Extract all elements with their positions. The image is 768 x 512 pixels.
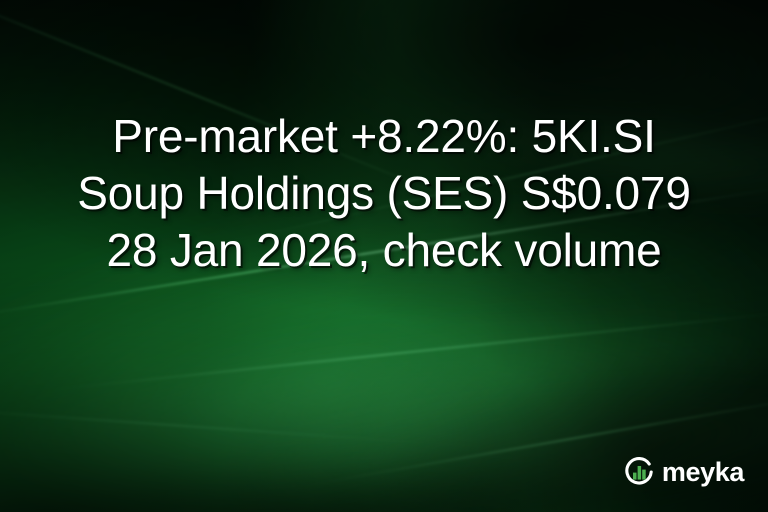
- meyka-logo: meyka: [623, 456, 744, 488]
- social-card: Pre-market +8.22%: 5KI.SI Soup Holdings …: [0, 0, 768, 512]
- headline-line-1: Pre-market +8.22%: 5KI.SI: [14, 108, 754, 165]
- headline-line-2: Soup Holdings (SES) S$0.079: [14, 165, 754, 222]
- headline-block: Pre-market +8.22%: 5KI.SI Soup Holdings …: [0, 108, 768, 279]
- meyka-ring-bars-icon: [623, 456, 655, 488]
- headline-line-3: 28 Jan 2026, check volume: [14, 222, 754, 279]
- meyka-wordmark: meyka: [662, 459, 744, 486]
